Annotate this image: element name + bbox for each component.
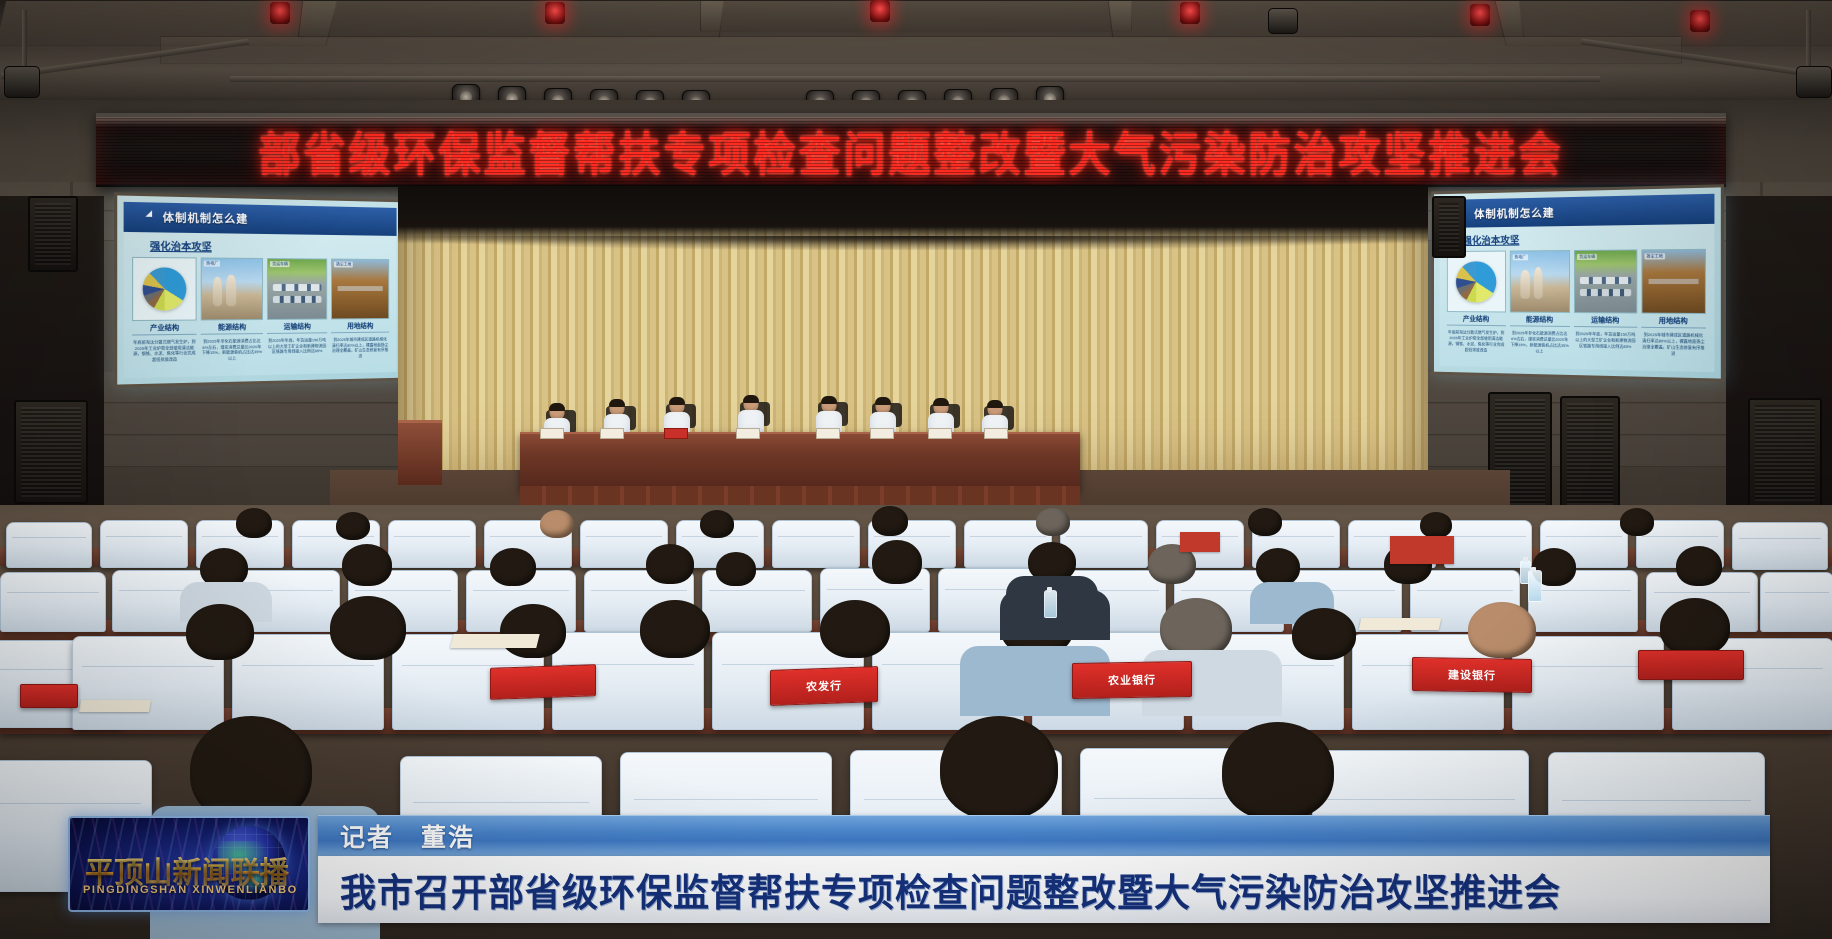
audience-chair xyxy=(772,520,860,568)
water-bottle xyxy=(1528,570,1542,602)
ceiling-panel xyxy=(700,0,1132,32)
ceiling-panel xyxy=(1108,0,1525,38)
spotlight xyxy=(1268,8,1298,34)
slide-title-bar: 体制机制怎么建 xyxy=(1440,194,1715,228)
trucks-photo: 货运车辆 xyxy=(267,258,327,320)
photo-caption: 热电厂 xyxy=(1513,254,1528,260)
power-plant-photo: 热电厂 xyxy=(1509,250,1570,313)
panel-nameplate xyxy=(928,428,952,439)
audience-chair xyxy=(1732,522,1828,570)
audience-head xyxy=(1468,602,1536,658)
org-placard-blank xyxy=(490,664,596,700)
stage-light-red xyxy=(870,0,890,22)
panel-nameplate xyxy=(664,428,688,439)
broadcast-frame: 部省级环保监督帮扶专项检查问题整改暨大气污染防治攻坚推进会 体制机制怎么建 强化… xyxy=(0,0,1832,939)
org-placard-nongye-yinhang: 农业银行 xyxy=(1072,661,1192,699)
pie-chart-icon xyxy=(143,267,187,310)
desk-placard-small xyxy=(1390,536,1454,564)
desk-paper xyxy=(450,634,539,648)
audience-head xyxy=(540,510,574,538)
audience-head xyxy=(1676,546,1722,586)
audience-head xyxy=(1292,608,1356,660)
projection-screen-left: 体制机制怎么建 强化治本攻坚 产业结构 年底前淘汰分散式燃气发生炉，到2025年… xyxy=(114,192,405,387)
slide-subtitle: 强化治本攻坚 xyxy=(1440,224,1715,249)
stage-light-red xyxy=(1180,2,1200,24)
slide-title-bar: 体制机制怎么建 xyxy=(124,202,397,236)
audience-head xyxy=(186,604,254,660)
reporter-bar: 记者 董浩 xyxy=(318,815,1770,856)
slide-column-label: 运输结构 xyxy=(267,321,327,334)
audience-head xyxy=(1420,512,1452,538)
desk-paper xyxy=(79,700,151,712)
panel-nameplate xyxy=(984,428,1008,439)
slide-column-label: 能源结构 xyxy=(201,322,263,335)
land-photo: 扬尘工地 xyxy=(1641,249,1706,314)
speaker xyxy=(1748,398,1822,508)
slide-column: 热电厂 能源结构 到2025年非化石能源消费占比达6%左右，煤炭消费总量比202… xyxy=(1509,250,1570,363)
audience-head xyxy=(1160,598,1232,658)
slide-column-text: 年底前淘汰分散式燃气发生炉，到2025年工业炉窑全部使用清洁能源，钢铁、水泥、焦… xyxy=(132,337,197,372)
headline-text: 我市召开部省级环保监督帮扶专项检查问题整改暨大气污染防治攻坚推进会 xyxy=(340,862,1561,917)
slide-column-text: 到2025年年底，年货运量150万吨以上的大型工矿企业和新建物流园区铁路专用线接… xyxy=(1574,329,1637,364)
ceiling-truss xyxy=(1806,10,1811,70)
audience-head xyxy=(700,510,734,538)
slide-column: 热电厂 能源结构 到2025年非化石能源消费占比达6%左右，煤炭消费总量比202… xyxy=(201,257,263,370)
power-plant-image xyxy=(1510,251,1569,312)
photo-caption: 货运车辆 xyxy=(270,261,290,267)
slide-column: 产业结构 年底前淘汰分散式燃气发生炉，到2025年工业炉窑全部使用清洁能源，钢铁… xyxy=(1447,251,1506,362)
pie-chart-media xyxy=(132,257,197,321)
org-placard-blank xyxy=(20,684,78,708)
stage-light-red xyxy=(1690,10,1710,32)
audience-head xyxy=(1620,508,1654,536)
org-placard-jianshe-yinhang: 建设银行 xyxy=(1412,657,1532,693)
stage-light-red xyxy=(270,2,290,24)
slide-right: 体制机制怎么建 强化治本攻坚 产业结构 年底前淘汰分散式燃气发生炉，到2025年… xyxy=(1440,194,1715,372)
panel-nameplate xyxy=(540,428,564,439)
slide-columns: 产业结构 年底前淘汰分散式燃气发生炉，到2025年工业炉窑全部使用清洁能源，钢铁… xyxy=(1440,247,1715,372)
curtain-valance xyxy=(398,236,1428,250)
slide-column-label: 能源结构 xyxy=(1509,315,1570,328)
ceiling-truss xyxy=(22,10,27,70)
pie-chart-icon xyxy=(1456,261,1496,302)
audience-head xyxy=(820,600,890,658)
photo-caption: 热电厂 xyxy=(204,261,220,267)
trucks-image xyxy=(268,259,326,319)
ceiling-panel xyxy=(160,36,1682,64)
org-placard-nongfahang: 农发行 xyxy=(770,666,878,706)
audience-head xyxy=(342,544,392,586)
panel-nameplate xyxy=(736,428,760,439)
channel-logo-en: PINGDINGSHAN XINWENLIANBO xyxy=(83,884,298,896)
channel-logo: 平顶山新闻联播 PINGDINGSHAN XINWENLIANBO xyxy=(68,816,310,912)
slide-title-text: 体制机制怎么建 xyxy=(1474,204,1554,221)
slide-column-text: 到2025年城市建成区道路机械化清扫率达80%以上，裸露地面扬尘治理全覆盖，矿山… xyxy=(331,334,389,367)
stage-light-red xyxy=(545,2,565,24)
audience-chair xyxy=(0,572,106,632)
slide-column-text: 到2025年城市建成区道路机械化清扫率达80%以上，裸露地面扬尘治理全覆盖，矿山… xyxy=(1641,330,1706,366)
slide-column-text: 到2025年非化石能源消费占比达6%左右，煤炭消费总量比2020年下降15%，新… xyxy=(201,336,263,370)
photo-caption: 扬尘工地 xyxy=(1644,253,1665,259)
audience-head xyxy=(872,540,922,584)
led-banner-text: 部省级环保监督帮扶专项检查问题整改暨大气污染防治攻坚推进会 xyxy=(258,117,1563,185)
panel-nameplate xyxy=(600,428,624,439)
slide-column: 产业结构 年底前淘汰分散式燃气发生炉，到2025年工业炉窑全部使用清洁能源，钢铁… xyxy=(132,257,197,372)
audience-head xyxy=(640,600,710,658)
speaker xyxy=(28,196,78,272)
audience-head xyxy=(646,544,694,584)
land-photo: 扬尘工地 xyxy=(331,258,389,319)
land-image xyxy=(1642,250,1705,313)
audience-head xyxy=(872,506,908,536)
pie-chart-media xyxy=(1447,251,1506,313)
org-placard-label: 建设银行 xyxy=(1448,667,1496,684)
speaker xyxy=(14,400,88,504)
org-placard-label: 农业银行 xyxy=(1108,672,1156,689)
diamond-bullet-icon xyxy=(146,211,159,224)
panel-table xyxy=(520,432,1080,490)
slide-column: 扬尘工地 用地结构 到2025年城市建成区道路机械化清扫率达80%以上，裸露地面… xyxy=(1641,249,1706,366)
audience-head xyxy=(1248,508,1282,536)
reporter-name: 记者 董浩 xyxy=(340,818,475,854)
slide-column-label: 产业结构 xyxy=(132,322,197,335)
water-bottle xyxy=(1044,590,1057,618)
slide-left: 体制机制怎么建 强化治本攻坚 产业结构 年底前淘汰分散式燃气发生炉，到2025年… xyxy=(124,202,397,378)
audience-head xyxy=(500,604,566,658)
power-plant-photo: 热电厂 xyxy=(201,257,263,320)
trucks-photo: 货运车辆 xyxy=(1574,250,1637,314)
audience-head xyxy=(716,552,756,586)
photo-caption: 货运车辆 xyxy=(1577,253,1597,259)
podium xyxy=(398,420,442,485)
slide-column-label: 用地结构 xyxy=(1641,316,1706,329)
slide-column-text: 到2025年非化石能源消费占比达6%左右，煤炭消费总量比2020年下降15%，新… xyxy=(1509,328,1570,363)
ceiling-truss xyxy=(230,76,1600,82)
lower-third: 平顶山新闻联播 PINGDINGSHAN XINWENLIANBO 记者 董浩 … xyxy=(0,794,1832,939)
audience-head xyxy=(1036,508,1070,536)
slide-column-label: 运输结构 xyxy=(1574,315,1637,328)
stage-light-red xyxy=(1470,4,1490,26)
slide-column: 货运车辆 运输结构 到2025年年底，年货运量150万吨以上的大型工矿企业和新建… xyxy=(1574,250,1637,365)
audience-head xyxy=(336,512,370,540)
trucks-image xyxy=(1575,251,1636,313)
audience-head xyxy=(330,596,406,660)
org-placard-label: 农发行 xyxy=(806,677,842,694)
slide-column-text: 到2025年年底，年货运量150万吨以上的大型工矿企业和新建物流园区铁路专用线接… xyxy=(267,335,327,369)
audience-head xyxy=(490,548,536,586)
slide-column-label: 用地结构 xyxy=(331,321,389,333)
headline-bar: 我市召开部省级环保监督帮扶专项检查问题整改暨大气污染防治攻坚推进会 xyxy=(318,856,1770,923)
speaker xyxy=(1560,396,1620,512)
desk-placard-small xyxy=(1180,532,1220,552)
slide-column: 货运车辆 运输结构 到2025年年底，年货运量150万吨以上的大型工矿企业和新建… xyxy=(267,258,327,369)
audience-chair xyxy=(100,520,188,568)
photo-caption: 扬尘工地 xyxy=(334,262,353,268)
power-plant-image xyxy=(202,258,262,319)
audience-chair xyxy=(1444,520,1532,568)
audience-chair xyxy=(388,520,476,568)
audience-head xyxy=(236,508,272,538)
projection-screen-right: 体制机制怎么建 强化治本攻坚 产业结构 年底前淘汰分散式燃气发生炉，到2025年… xyxy=(1431,184,1724,382)
slide-columns: 产业结构 年底前淘汰分散式燃气发生炉，到2025年工业炉窑全部使用清洁能源，钢铁… xyxy=(124,255,397,379)
panel-nameplate xyxy=(870,428,894,439)
land-image xyxy=(332,259,388,318)
slide-column-label: 产业结构 xyxy=(1447,314,1506,326)
slide-title-text: 体制机制怎么建 xyxy=(163,209,249,227)
led-banner: 部省级环保监督帮扶专项检查问题整改暨大气污染防治攻坚推进会 xyxy=(96,113,1726,187)
ceiling-panel xyxy=(298,0,725,38)
audience-chair xyxy=(6,522,92,568)
spotlight xyxy=(4,66,40,98)
panel-nameplate xyxy=(816,428,840,439)
org-placard-blank xyxy=(1638,650,1744,680)
slide-column-text: 年底前淘汰分散式燃气发生炉，到2025年工业炉窑全部使用清洁能源，钢铁、水泥、焦… xyxy=(1447,328,1506,362)
desk-paper xyxy=(1359,618,1442,630)
slide-subtitle: 强化治本攻坚 xyxy=(124,232,397,257)
audience-chair xyxy=(1760,572,1832,632)
spotlight xyxy=(1796,66,1832,98)
slide-column: 扬尘工地 用地结构 到2025年城市建成区道路机械化清扫率达80%以上，裸露地面… xyxy=(331,258,389,367)
audience-head xyxy=(1256,548,1300,586)
audience-head xyxy=(1660,598,1730,656)
speaker xyxy=(1432,196,1466,258)
